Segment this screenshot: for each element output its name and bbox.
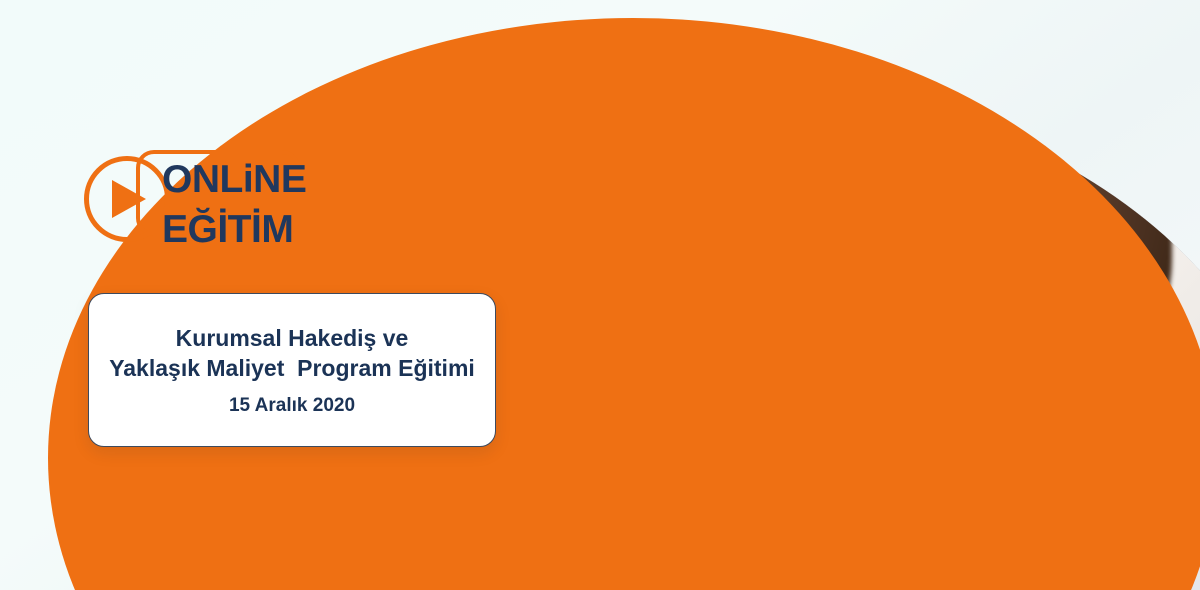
play-triangle-icon <box>112 180 146 218</box>
participant-tile <box>900 98 1040 197</box>
participant-tile <box>654 120 776 212</box>
participant-tile <box>552 298 666 382</box>
active-speaker-tile <box>659 199 914 381</box>
logo-text-egitim: EĞİTİM <box>162 210 293 249</box>
participant-tile <box>773 109 903 204</box>
title-line-1: Kurumsal Hakediş ve <box>176 323 409 353</box>
participant-tile <box>543 130 657 219</box>
logo-text-online: ONLiNE <box>162 160 306 199</box>
title-line-2: Yaklaşık Maliyet Program Eğitimi <box>109 353 475 383</box>
online-egitim-logo: ONLiNE EĞİTİM <box>84 142 314 252</box>
participant-tile <box>547 214 661 300</box>
title-card: Kurumsal Hakediş ve Yaklaşık Maliyet Pro… <box>88 293 496 447</box>
online-training-banner: ONLiNE EĞİTİM Kurumsal Hakediş ve Yaklaş… <box>0 0 1200 590</box>
participant-tile <box>906 191 1046 287</box>
typing-hand-left <box>710 420 920 570</box>
event-date: 15 Aralık 2020 <box>229 395 355 417</box>
